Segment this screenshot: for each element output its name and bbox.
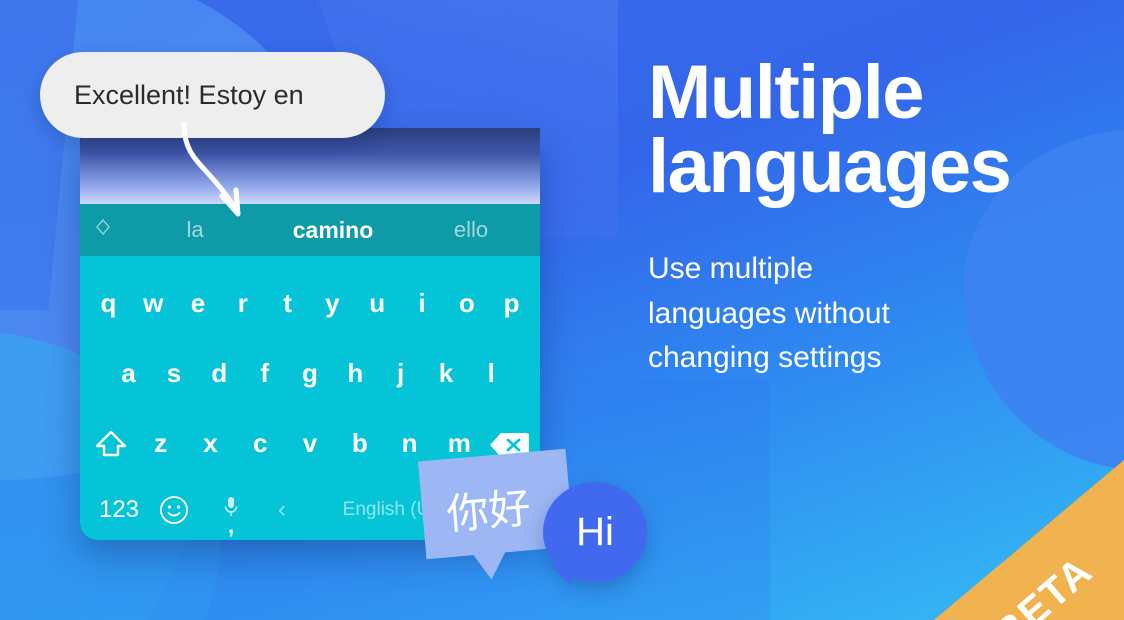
english-bubble: Hi: [543, 482, 647, 582]
chinese-bubble-text: 你好: [444, 474, 533, 542]
key-t[interactable]: t: [265, 288, 310, 319]
subtitle-line-3: changing settings: [648, 341, 882, 374]
headline-line-2: languages: [648, 124, 1010, 209]
callout-text: Excellent! Estoy en: [40, 80, 304, 111]
microphone-key[interactable]: ,: [200, 495, 262, 526]
key-z[interactable]: z: [136, 428, 186, 459]
text-field-area: [80, 128, 540, 204]
key-a[interactable]: a: [106, 358, 151, 389]
suggestion-bar: la camino ello: [80, 204, 540, 256]
key-i[interactable]: i: [400, 288, 445, 319]
page-title: Multiple languages: [648, 56, 1068, 203]
numeric-key[interactable]: 123: [90, 496, 148, 524]
chinese-bubble-tail: [472, 550, 508, 581]
key-b[interactable]: b: [335, 428, 385, 459]
key-u[interactable]: u: [355, 288, 400, 319]
key-h[interactable]: h: [333, 358, 378, 389]
english-bubble-text: Hi: [576, 510, 614, 555]
promo-banner: Multiple languages Use multiple language…: [0, 0, 1124, 620]
key-l[interactable]: l: [469, 358, 514, 389]
key-row-1: q w e r t y u i o p: [80, 256, 540, 338]
subtitle-line-2: languages without: [648, 297, 890, 330]
key-e[interactable]: e: [176, 288, 221, 319]
chevron-left-icon[interactable]: ‹: [262, 496, 302, 524]
key-y[interactable]: y: [310, 288, 355, 319]
headline-line-1: Multiple: [648, 50, 923, 135]
key-v[interactable]: v: [285, 428, 335, 459]
key-x[interactable]: x: [186, 428, 236, 459]
diamond-expand-icon[interactable]: [80, 218, 126, 242]
key-k[interactable]: k: [423, 358, 468, 389]
key-r[interactable]: r: [220, 288, 265, 319]
subtitle-line-1: Use multiple: [648, 252, 813, 285]
key-j[interactable]: j: [378, 358, 423, 389]
key-f[interactable]: f: [242, 358, 287, 389]
shift-arrow-icon[interactable]: [86, 426, 136, 459]
key-w[interactable]: w: [131, 288, 176, 319]
key-row-2: a s d f g h j k l: [80, 338, 540, 408]
smiley-icon[interactable]: [148, 495, 200, 525]
suggestion-item-2[interactable]: camino: [264, 217, 402, 244]
curved-arrow-icon: [178, 122, 268, 227]
promo-copy: Multiple languages Use multiple language…: [648, 56, 1068, 381]
key-p[interactable]: p: [489, 288, 534, 319]
suggestion-item-3[interactable]: ello: [402, 217, 540, 243]
key-s[interactable]: s: [151, 358, 196, 389]
key-n[interactable]: n: [385, 428, 435, 459]
key-d[interactable]: d: [197, 358, 242, 389]
key-o[interactable]: o: [444, 288, 489, 319]
key-c[interactable]: c: [235, 428, 285, 459]
key-g[interactable]: g: [287, 358, 332, 389]
key-m[interactable]: m: [434, 428, 484, 459]
promo-subtitle: Use multiple languages without changing …: [648, 247, 1068, 380]
key-q[interactable]: q: [86, 288, 131, 319]
